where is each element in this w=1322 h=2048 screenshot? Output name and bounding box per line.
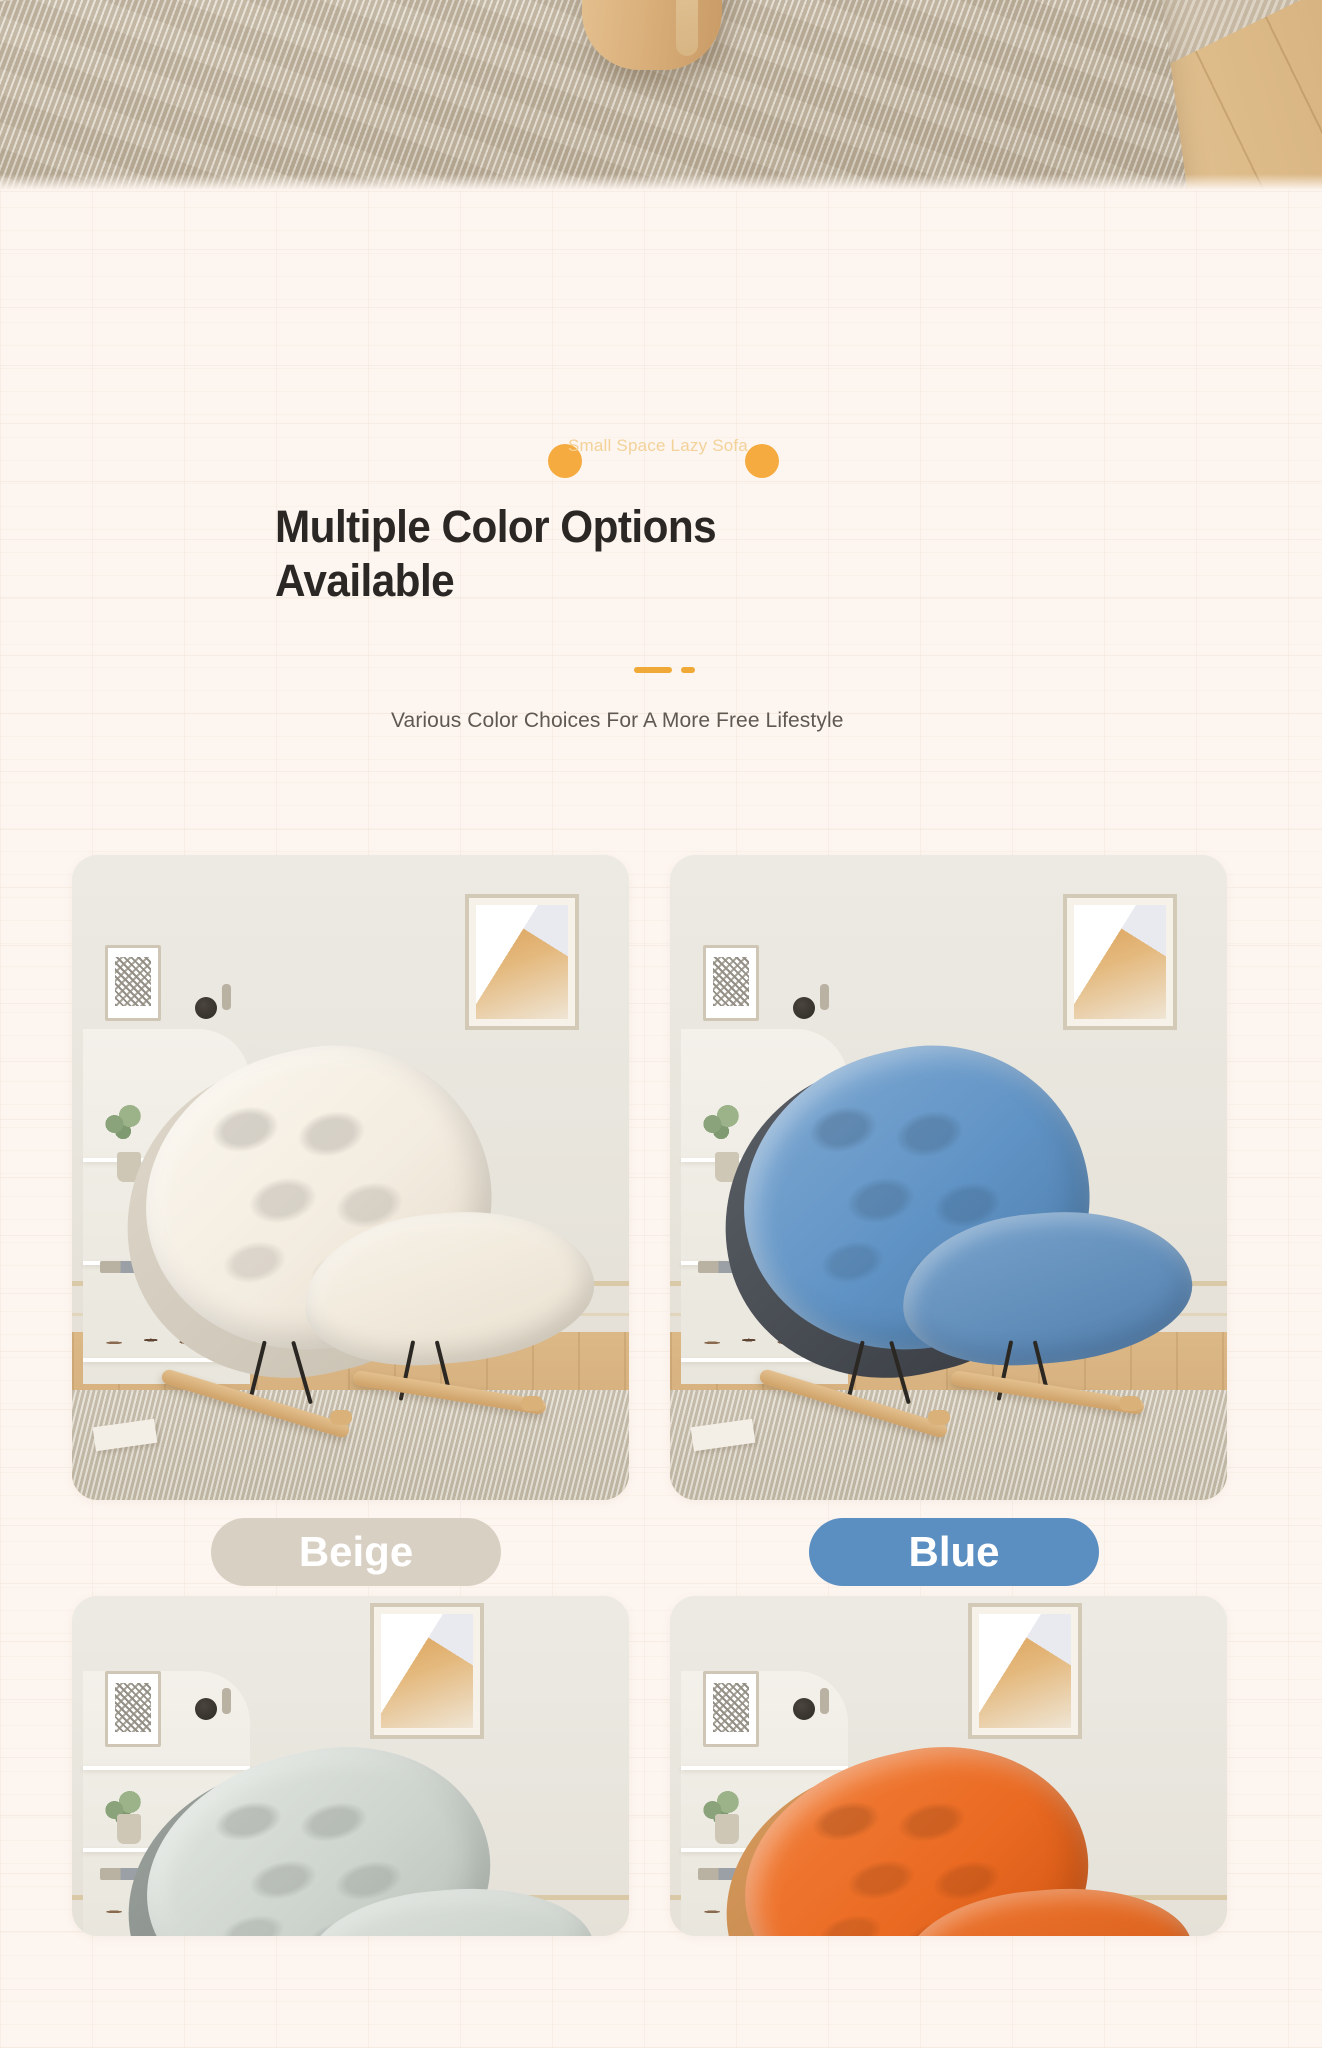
color-label-row-beige: Beige [72, 1504, 629, 1600]
decor-sphere [195, 1698, 217, 1720]
room-scene [72, 855, 629, 1500]
wooden-chair-leg-highlight [676, 0, 698, 56]
runner-cap [521, 1396, 543, 1411]
product-image-blue[interactable] [670, 855, 1227, 1500]
small-picture-frame [703, 1671, 759, 1747]
rocker-runner-right [352, 1370, 547, 1415]
large-wall-art [370, 1603, 484, 1739]
decor-stick [820, 984, 829, 1010]
small-picture-frame [105, 1671, 161, 1747]
large-wall-art [968, 1603, 1082, 1739]
rocking-chair-beige [117, 1049, 585, 1423]
large-wall-art [1063, 894, 1177, 1030]
small-picture-frame [105, 945, 161, 1021]
runner-cap [928, 1410, 950, 1425]
hero-room-photo [0, 0, 1322, 190]
wire-leg [291, 1341, 313, 1405]
room-scene [670, 1596, 1227, 1936]
rocking-chair-gray [117, 1752, 585, 1936]
decor-sphere [793, 997, 815, 1019]
chair-legs [173, 1340, 547, 1452]
large-wall-art [465, 894, 579, 1030]
eyebrow-tag: Small Space Lazy Sofa [548, 435, 798, 483]
swatch-cell-beige[interactable]: Beige [72, 855, 629, 1500]
divider-dash-long [634, 667, 672, 673]
swatch-cell-orange[interactable] [670, 1596, 1227, 1936]
rocking-chair-orange [715, 1752, 1183, 1936]
wire-leg [889, 1341, 911, 1405]
decor-stick [222, 984, 231, 1010]
decor-stick [222, 1688, 231, 1714]
photo-fade [0, 174, 1322, 190]
page-title: Multiple Color Options Available [275, 500, 877, 608]
decor-sphere [793, 1698, 815, 1720]
runner-cap [1119, 1396, 1141, 1411]
rocking-chair-blue [715, 1049, 1183, 1423]
small-picture-frame [703, 945, 759, 1021]
color-label-blue[interactable]: Blue [809, 1518, 1099, 1586]
color-swatch-grid: Beige [72, 855, 1227, 1936]
decor-stick [820, 1688, 829, 1714]
room-scene [72, 1596, 629, 1936]
color-label-row-blue: Blue [670, 1504, 1227, 1600]
room-scene [670, 855, 1227, 1500]
color-label-beige[interactable]: Beige [211, 1518, 501, 1586]
chair-legs [771, 1340, 1145, 1452]
product-image-gray[interactable] [72, 1596, 629, 1936]
decor-sphere [195, 997, 217, 1019]
runner-cap [330, 1410, 352, 1425]
page-subtitle: Various Color Choices For A More Free Li… [391, 710, 861, 732]
eyebrow-label: Small Space Lazy Sofa [568, 435, 798, 456]
rocker-runner-right [950, 1370, 1145, 1415]
swatch-cell-blue[interactable]: Blue [670, 855, 1227, 1500]
product-image-orange[interactable] [670, 1596, 1227, 1936]
divider-dash-short [681, 667, 695, 673]
swatch-cell-gray[interactable] [72, 1596, 629, 1936]
title-divider [634, 667, 695, 673]
product-image-beige[interactable] [72, 855, 629, 1500]
